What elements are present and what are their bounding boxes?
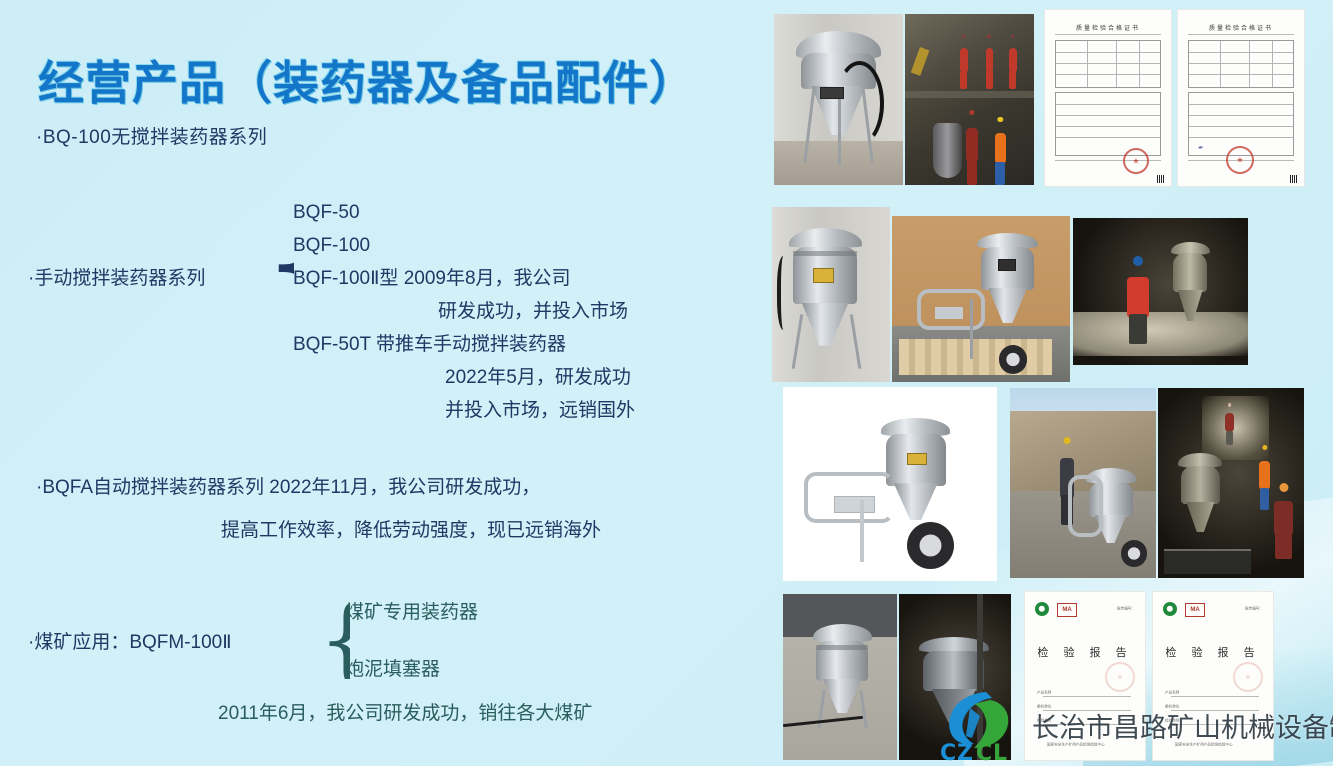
coal-mine-note: 2011年6月，我公司研发成功，销往各大煤矿 — [218, 698, 592, 725]
report-1-title: 检 验 报 告 — [1025, 644, 1145, 660]
item-bqf-100: BQF-100 — [293, 235, 370, 256]
svg-text:C: C — [976, 741, 992, 764]
item-bqf-100ii-cont: 研发成功，并投入市场 — [293, 295, 635, 328]
report-1-ma-badge: MA — [1057, 603, 1077, 617]
svg-text:C: C — [940, 741, 956, 764]
photo-charging-machine-stand[interactable] — [774, 14, 903, 185]
item-bqf-50t: BQF-50T 带推车手动搅拌装药器 — [293, 334, 566, 355]
certificate-doc-2[interactable]: 质量检验合格证书 ✒ — [1178, 10, 1304, 186]
item-stemming-device: 炮泥填塞器 — [345, 654, 440, 681]
photo-charging-machine-yard[interactable] — [783, 594, 897, 760]
item-bqf-50: BQF-50 — [293, 202, 360, 223]
item-coal-special-charger: 煤矿专用装药器 — [345, 597, 478, 624]
text-column: 经营产品（装药器及备品配件） ·BQ-100无搅拌装药器系列 ·手动搅拌装药器系… — [0, 0, 760, 766]
photo-charging-machine-cart-warehouse[interactable] — [892, 216, 1070, 382]
bullet-bq100-series: ·BQ-100无搅拌装药器系列 — [36, 122, 267, 149]
svg-text:Z: Z — [957, 741, 973, 764]
photo-charging-machine-indoor[interactable] — [772, 207, 890, 382]
photo-gallery: 质量检验合格证书 质量检验合格证书 — [760, 0, 1333, 766]
brace-manual-group: { — [260, 192, 294, 337]
bqfa-auto-series: ·BQFA自动搅拌装药器系列 2022年11月，我公司研发成功， 提高工作效率，… — [36, 466, 601, 552]
item-bqf-100ii: BQF-100Ⅱ型 2009年8月，我公司 — [293, 268, 571, 289]
photo-worker-underground-foam[interactable] — [1073, 218, 1248, 365]
report-2-ma-badge: MA — [1185, 603, 1205, 617]
photo-worker-pushing-cart-outdoor[interactable] — [1010, 388, 1156, 578]
photo-mine-workers-tunnel[interactable] — [905, 14, 1034, 185]
watermark-company-name: 长治市昌路矿山机械设备制造有限公司 — [1032, 706, 1333, 745]
label-manual-mixing-series: ·手动搅拌装药器系列 — [28, 263, 205, 290]
svg-text:L: L — [993, 741, 1007, 764]
item-bqf-50t-cont2: 并投入市场，远销国外 — [293, 394, 635, 427]
watermark: C Z C L 长治市昌路矿山机械设备制造有限公司 — [930, 686, 1333, 764]
photo-tunnel-charging-operation[interactable] — [1158, 388, 1304, 578]
certificate-doc-1[interactable]: 质量检验合格证书 — [1045, 10, 1171, 186]
cert-doc-1-title: 质量检验合格证书 — [1045, 23, 1171, 32]
bqfa-line-1: ·BQFA自动搅拌装药器系列 2022年11月，我公司研发成功， — [36, 477, 540, 498]
label-coal-mine-application: ·煤矿应用：BQFM-100Ⅱ — [28, 627, 232, 654]
manual-series-items: BQF-50 BQF-100 BQF-100Ⅱ型 2009年8月，我公司 研发成… — [293, 196, 635, 427]
item-bqf-50t-cont1: 2022年5月，研发成功 — [293, 361, 635, 394]
photo-cart-charging-machine-white[interactable] — [783, 387, 997, 581]
slide-root: 经营产品（装药器及备品配件） ·BQ-100无搅拌装药器系列 ·手动搅拌装药器系… — [0, 0, 1333, 766]
czcl-logo: C Z C L — [930, 686, 1026, 764]
bqfa-line-2: 提高工作效率，降低劳动强度，现已远销海外 — [36, 509, 601, 552]
page-title: 经营产品（装药器及备品配件） — [38, 47, 696, 113]
report-2-title: 检 验 报 告 — [1153, 644, 1273, 660]
cert-doc-2-title: 质量检验合格证书 — [1178, 23, 1304, 32]
